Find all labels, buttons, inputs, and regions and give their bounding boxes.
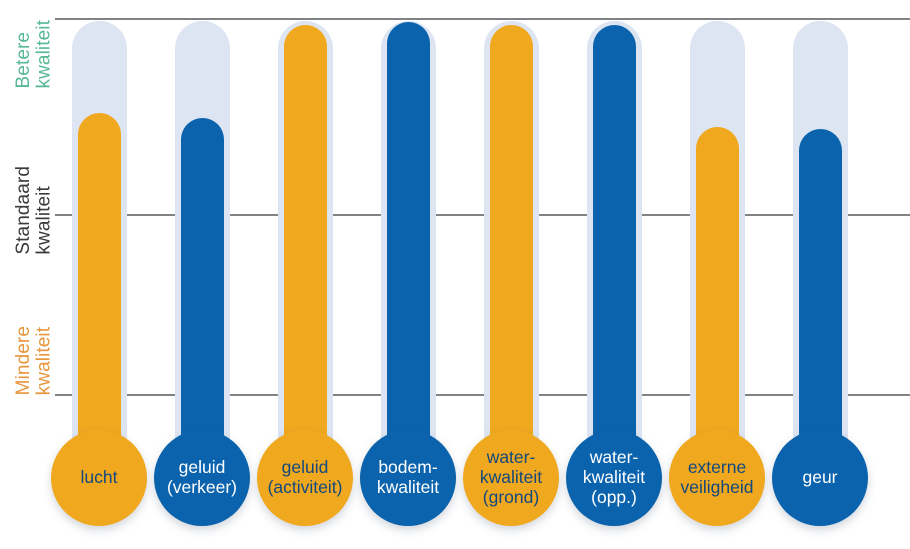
thermometer-bulb[interactable]: water- kwaliteit (grond) <box>463 430 559 526</box>
thermometer-bulb[interactable]: geluid (activiteit) <box>257 430 353 526</box>
thermometer-fill <box>593 25 636 476</box>
thermometer-bulb-label: geluid (activiteit) <box>268 458 343 498</box>
thermometer-column: geluid (verkeer) <box>151 0 254 549</box>
thermometer-fill <box>78 113 121 476</box>
thermometer-bulb[interactable]: externe veiligheid <box>669 430 765 526</box>
thermometer-bulb-label: geluid (verkeer) <box>167 458 237 498</box>
thermometer-fill <box>696 127 739 476</box>
thermometer-bulb[interactable]: water- kwaliteit (opp.) <box>566 430 662 526</box>
thermometer-column: water- kwaliteit (opp.) <box>563 0 666 549</box>
thermometer-column: geur <box>769 0 872 549</box>
thermometer-bulb[interactable]: bodem- kwaliteit <box>360 430 456 526</box>
thermometer-fill <box>181 118 224 476</box>
thermometer-bulb-label: geur <box>802 468 837 488</box>
thermometer-fill <box>284 25 327 476</box>
thermometer-bulb-label: lucht <box>81 468 118 488</box>
thermometer-bulb[interactable]: geluid (verkeer) <box>154 430 250 526</box>
thermometer-column: water- kwaliteit (grond) <box>460 0 563 549</box>
thermometer-bulb-label: bodem- kwaliteit <box>377 458 439 498</box>
thermometer-bulb-label: water- kwaliteit (grond) <box>480 448 542 508</box>
thermometer-bulb[interactable]: geur <box>772 430 868 526</box>
thermometer-bulb-label: water- kwaliteit (opp.) <box>583 448 645 508</box>
chart-canvas: Betere kwaliteit Standaard kwaliteit Min… <box>0 0 910 549</box>
thermometer-column: geluid (activiteit) <box>254 0 357 549</box>
thermometer-column: lucht <box>48 0 151 549</box>
thermometer-column: bodem- kwaliteit <box>357 0 460 549</box>
thermometer-bulb[interactable]: lucht <box>51 430 147 526</box>
thermometer-fill <box>387 22 430 476</box>
thermometer-bulb-label: externe veiligheid <box>681 458 754 498</box>
thermometer-column: externe veiligheid <box>666 0 769 549</box>
thermometer-fill <box>799 129 842 476</box>
thermometer-fill <box>490 25 533 476</box>
